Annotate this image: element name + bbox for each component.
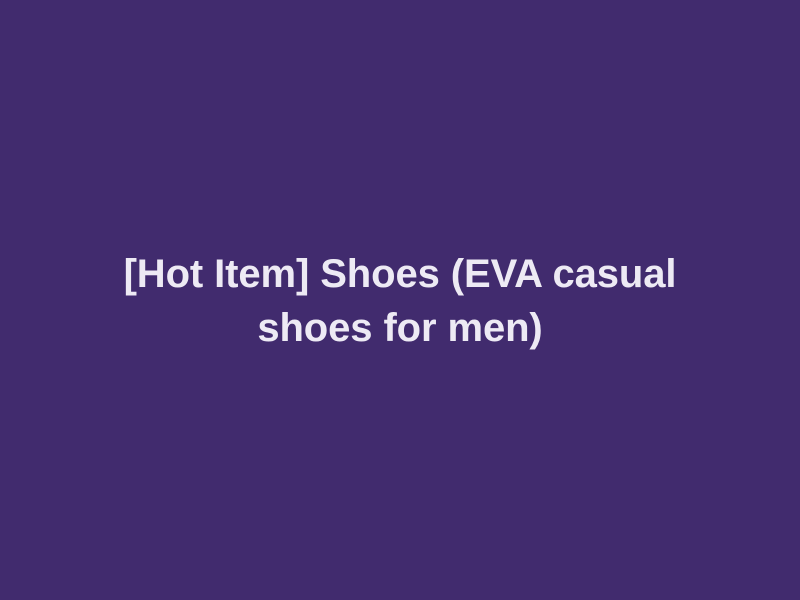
image-placeholder-card: [Hot Item] Shoes (EVA casual shoes for m… (0, 0, 800, 600)
title-block: [Hot Item] Shoes (EVA casual shoes for m… (68, 247, 732, 355)
placeholder-title: [Hot Item] Shoes (EVA casual shoes for m… (68, 247, 732, 355)
